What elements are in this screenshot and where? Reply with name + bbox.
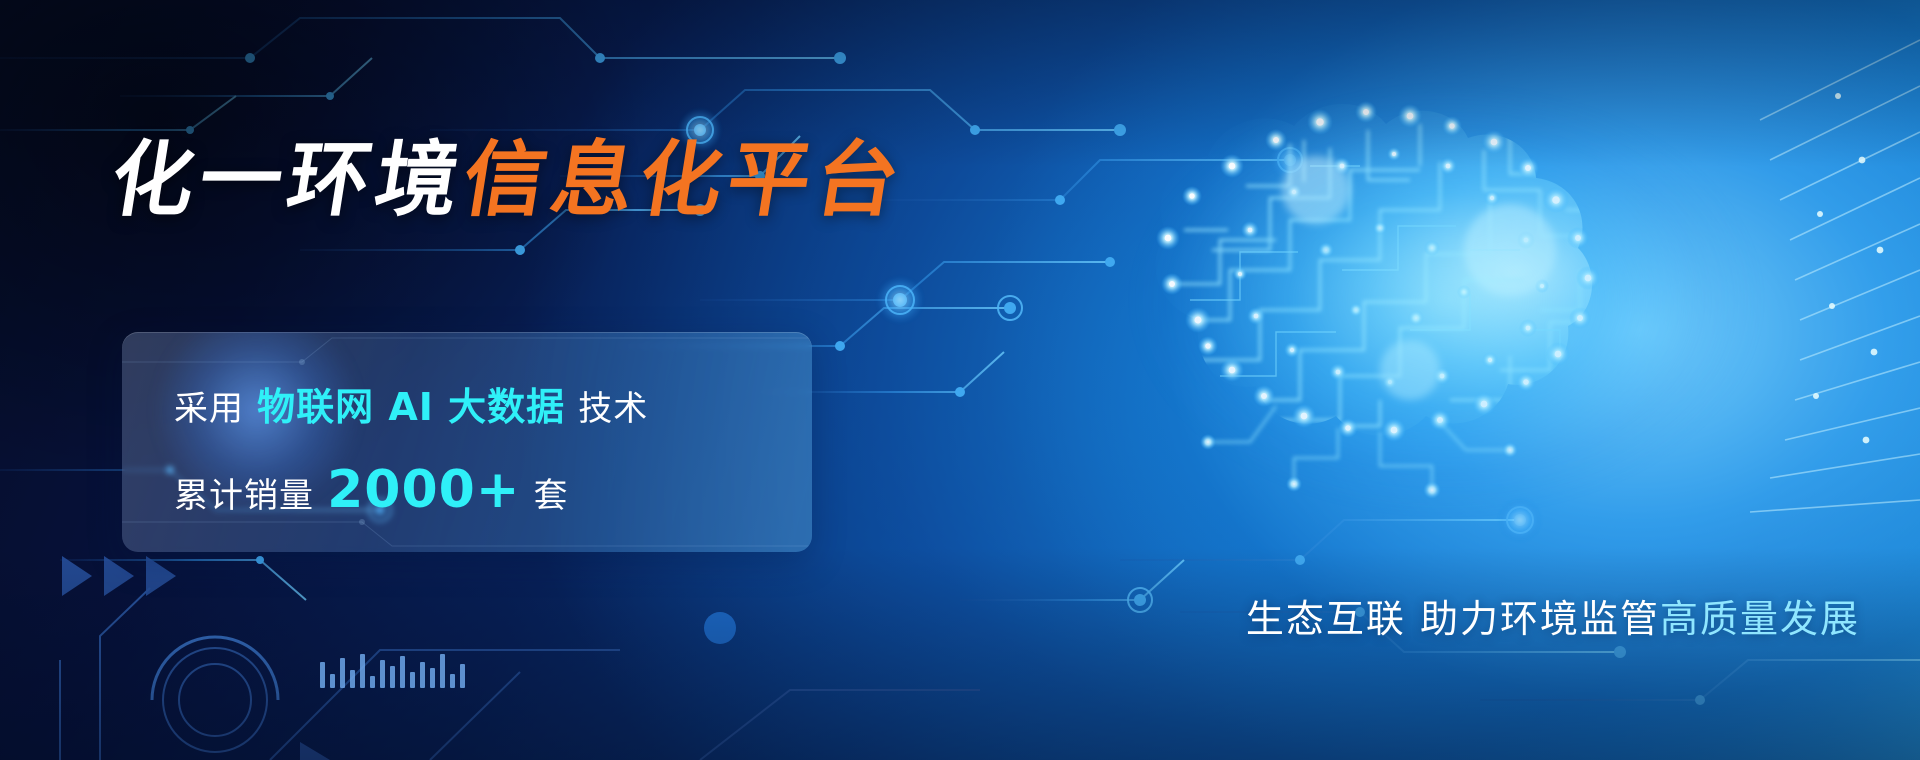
panel-line-2-lead: 累计销量 bbox=[174, 476, 314, 516]
hero-banner: 化一环境信息化平台 采用 物联网 AI 大数据 技术 累计销量 2000+ 套 … bbox=[0, 0, 1920, 760]
panel-line-2-highlight: 2000+ bbox=[327, 460, 520, 520]
tagline-cyan: 高质量发展 bbox=[1660, 597, 1860, 641]
headline-white: 化一环境 bbox=[105, 133, 472, 228]
hud-decoration bbox=[0, 530, 760, 760]
tagline: 生态互联 助力环境监管高质量发展 bbox=[920, 588, 1860, 643]
panel-line-1: 采用 物联网 AI 大数据 技术 bbox=[174, 376, 648, 431]
page-title: 化一环境信息化平台 bbox=[106, 140, 911, 222]
tagline-white: 生态互联 助力环境监管 bbox=[1246, 597, 1660, 641]
headline-orange: 信息化平台 bbox=[457, 133, 912, 228]
barcode-decoration bbox=[320, 654, 465, 688]
panel-line-1-lead: 采用 bbox=[174, 389, 244, 429]
feature-panel: 采用 物联网 AI 大数据 技术 累计销量 2000+ 套 bbox=[122, 332, 812, 552]
panel-line-1-tail: 技术 bbox=[578, 389, 648, 429]
panel-line-2-tail: 套 bbox=[533, 476, 568, 516]
panel-line-1-highlight: 物联网 AI 大数据 bbox=[257, 385, 565, 429]
panel-line-2: 累计销量 2000+ 套 bbox=[174, 460, 568, 520]
